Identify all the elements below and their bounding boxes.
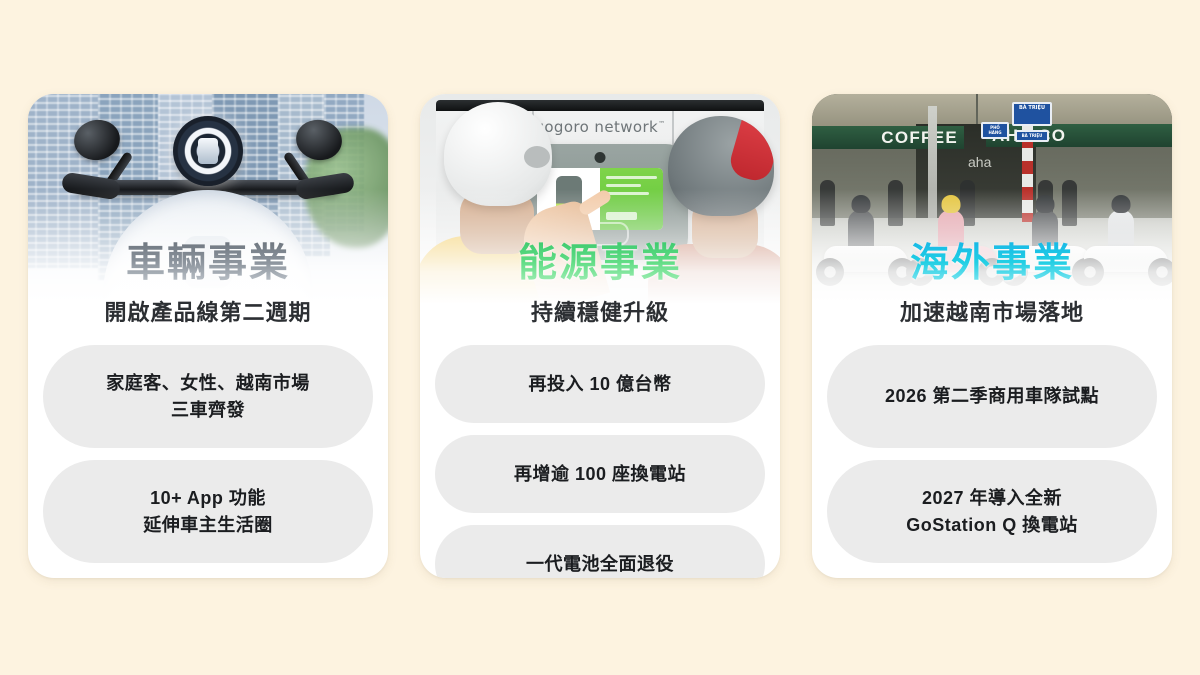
pedestrian	[888, 180, 903, 226]
card-subtitle: 開啟產品線第二週期	[28, 295, 388, 327]
list-item[interactable]: 2027 年導入全新 GoStation Q 換電站	[827, 460, 1157, 563]
pill-line: 再投入 10 億台幣	[528, 371, 671, 397]
helmet-stripe	[727, 116, 774, 184]
pill-line: 2027 年導入全新	[906, 485, 1078, 511]
helmet-visor	[524, 146, 550, 168]
pill-line: 10+ App 功能	[143, 485, 273, 511]
street-sign: BÀ TRIỆU	[1015, 130, 1049, 142]
business-card-vehicle[interactable]: 車輛事業 開啟產品線第二週期 家庭客、女性、越南市場 三車齊發 10+ App …	[28, 94, 388, 578]
white-helmet-icon	[444, 102, 552, 206]
page-title: 車輛事業	[28, 242, 388, 286]
list-item[interactable]: 10+ App 功能 延伸車主生活圈	[43, 460, 373, 563]
highlight-list-energy: 再投入 10 億台幣 再增逾 100 座換電站 一代電池全面退役	[435, 345, 765, 578]
card-subtitle: 加速越南市場落地	[812, 295, 1172, 327]
sign-text: COFFEE	[881, 128, 958, 148]
screen-text-line	[606, 212, 637, 220]
pill-line: 家庭客、女性、越南市場	[106, 370, 310, 396]
street-sign: BÀ TRIỆU	[1012, 102, 1052, 126]
aha-wordmark: aha	[968, 154, 991, 170]
highlight-list-vehicle: 家庭客、女性、越南市場 三車齊發 10+ App 功能 延伸車主生活圈	[43, 345, 373, 563]
red-grey-helmet-icon	[668, 116, 774, 216]
list-item[interactable]: 家庭客、女性、越南市場 三車齊發	[43, 345, 373, 448]
screen-text-line	[606, 192, 649, 195]
card-heading-group-overseas: 海外事業 加速越南市場落地	[812, 242, 1172, 327]
pill-line: 三車齊發	[106, 397, 310, 423]
pill-line: 2026 第二季商用車隊試點	[885, 383, 1099, 409]
screen-text-line	[606, 184, 641, 187]
utility-pole	[928, 106, 937, 218]
camera-icon	[595, 152, 606, 163]
pill-line: 再增逾 100 座換電站	[514, 461, 686, 487]
highlight-list-overseas: 2026 第二季商用車隊試點 2027 年導入全新 GoStation Q 換電…	[827, 345, 1157, 563]
list-item[interactable]: 一代電池全面退役	[435, 525, 765, 578]
business-card-energy[interactable]: gogoro network™	[420, 94, 780, 578]
headlight-icon	[173, 116, 243, 186]
street-sign: PHỐ HÀNG	[981, 122, 1009, 139]
card-heading-group-energy: 能源事業 持續穩健升級	[420, 242, 780, 327]
coffee-sign: COFFEE	[812, 126, 964, 149]
pedestrian	[1062, 180, 1077, 226]
page-title: 海外事業	[812, 242, 1172, 286]
list-item[interactable]: 再投入 10 億台幣	[435, 345, 765, 423]
pill-line: 一代電池全面退役	[526, 551, 674, 577]
card-heading-group-vehicle: 車輛事業 開啟產品線第二週期	[28, 242, 388, 327]
slide-canvas: 車輛事業 開啟產品線第二週期 家庭客、女性、越南市場 三車齊發 10+ App …	[0, 0, 1200, 675]
list-item[interactable]: 2026 第二季商用車隊試點	[827, 345, 1157, 448]
card-subtitle: 持續穩健升級	[420, 295, 780, 327]
pedestrian	[820, 180, 835, 226]
business-card-overseas[interactable]: aha COFFEE AHA CO BÀ TRIỆU PHỐ HÀNG BÀ T…	[812, 94, 1172, 578]
aha-coffee-sign: AHA CO	[986, 124, 1172, 147]
pill-line: 延伸車主生活圈	[143, 512, 273, 538]
page-title: 能源事業	[420, 242, 780, 286]
screen-text-line	[606, 176, 657, 179]
pill-line: GoStation Q 換電站	[906, 512, 1078, 538]
list-item[interactable]: 再增逾 100 座換電站	[435, 435, 765, 513]
